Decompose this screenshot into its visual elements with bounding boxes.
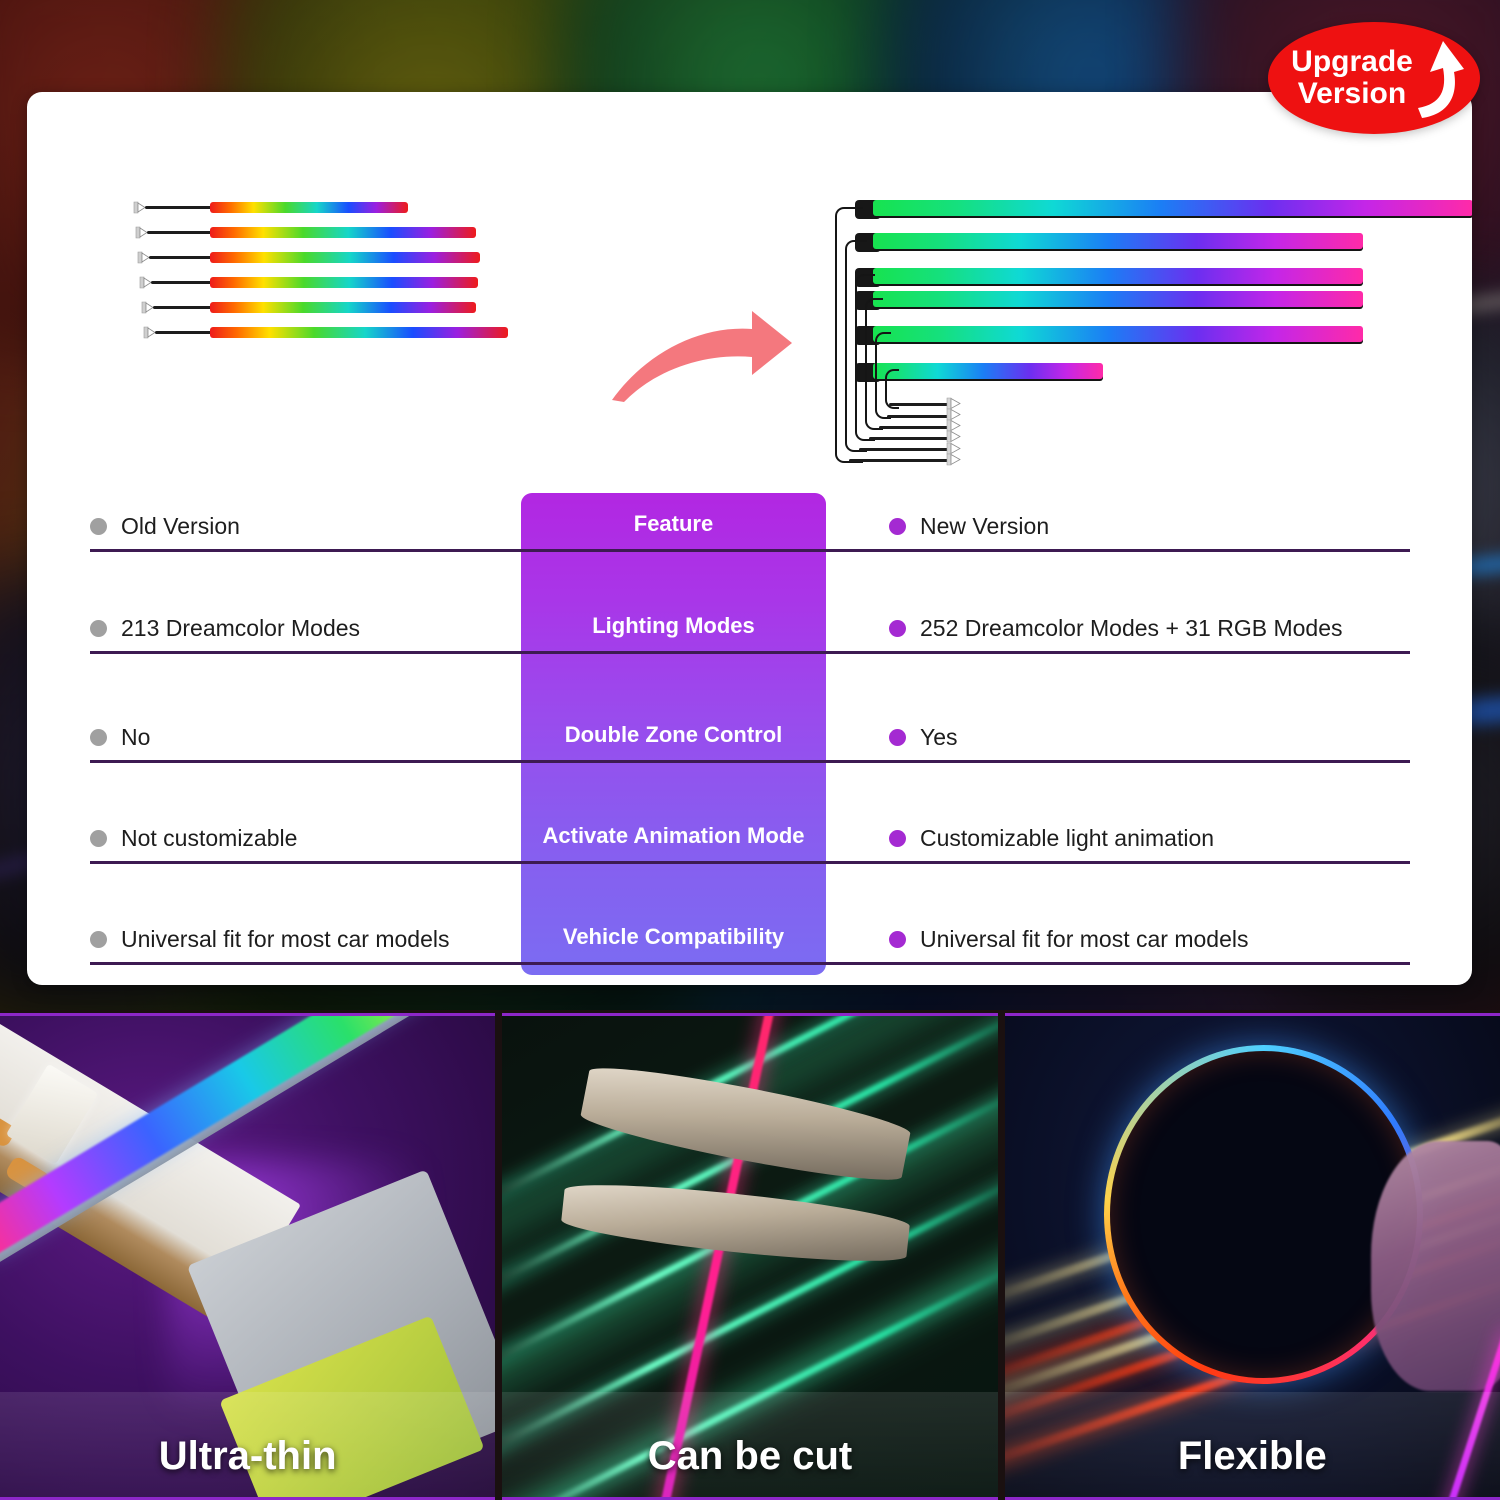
- table-separator: [90, 861, 1410, 864]
- table-row: Customizable light animation: [889, 823, 1409, 853]
- old-version-bullet-icon: [90, 518, 107, 535]
- old-version-header-label: Old Version: [121, 513, 240, 540]
- new-version-bullet-icon: [889, 830, 906, 847]
- table-row: Yes: [889, 722, 1409, 752]
- photo-caption: Flexible: [1005, 1434, 1500, 1479]
- photo-ultra-thin: Ultra-thin: [0, 1013, 495, 1500]
- old-version-bullet-icon: [90, 729, 107, 746]
- cell-old-value: No: [121, 724, 150, 751]
- cell-new-value: Universal fit for most car models: [920, 926, 1248, 953]
- connector-wire: [147, 231, 213, 234]
- cell-feature-label: Activate Animation Mode: [521, 823, 826, 849]
- photo-flexible: Flexible: [1005, 1013, 1500, 1500]
- old-version-bullet-icon: [90, 830, 107, 847]
- table-separator: [90, 549, 1410, 552]
- cell-old-value: 213 Dreamcolor Modes: [121, 615, 360, 642]
- cell-feature-label: Vehicle Compatibility: [521, 924, 826, 950]
- table-row: Universal fit for most car models: [90, 924, 520, 954]
- table-row-header-right: New Version: [889, 511, 1409, 541]
- comparison-table: Old Version Feature New Version 213 Drea…: [27, 487, 1472, 985]
- led-strip-new: [873, 200, 1472, 216]
- curved-up-arrow-icon: [1400, 38, 1470, 122]
- connector-wire: [879, 426, 949, 429]
- feature-photo-strip: Ultra-thin Can be cut Flexible: [0, 1013, 1500, 1500]
- transition-arrow-icon: [602, 297, 797, 407]
- led-strip-old: [210, 202, 408, 213]
- new-version-bullet-icon: [889, 931, 906, 948]
- connector-wire: [153, 306, 213, 309]
- content-card: Old Version Feature New Version 213 Drea…: [27, 92, 1472, 985]
- led-strip-new: [873, 326, 1363, 342]
- connector-wire: [869, 437, 949, 440]
- led-strip-new: [873, 363, 1103, 379]
- table-separator: [90, 760, 1410, 763]
- new-version-bullet-icon: [889, 518, 906, 535]
- connector-plug-icon: [945, 452, 962, 467]
- old-version-bullet-icon: [90, 931, 107, 948]
- led-strip-new: [873, 268, 1363, 284]
- led-strip-old: [210, 327, 508, 338]
- table-row-header-left: Old Version: [90, 511, 520, 541]
- led-strip-old: [210, 302, 476, 313]
- table-row: Not customizable: [90, 823, 520, 853]
- led-strip-new: [873, 233, 1363, 249]
- table-row: 252 Dreamcolor Modes + 31 RGB Modes: [889, 613, 1409, 643]
- connector-wire: [859, 448, 949, 451]
- cell-new-value: Customizable light animation: [920, 825, 1214, 852]
- new-version-bullet-icon: [889, 620, 906, 637]
- smd-led-chip: [6, 1064, 99, 1166]
- connector-wire: [849, 459, 949, 462]
- connector-wire: [887, 415, 949, 418]
- led-strip-old: [210, 227, 476, 238]
- cell-feature-label: Double Zone Control: [521, 722, 826, 748]
- table-row: 213 Dreamcolor Modes: [90, 613, 520, 643]
- table-separator: [90, 651, 1410, 654]
- connector-wire: [145, 206, 213, 209]
- feature-header-label: Feature: [521, 511, 826, 537]
- photo-caption: Can be cut: [502, 1434, 997, 1479]
- connector-wire: [155, 331, 213, 334]
- table-separator: [90, 962, 1410, 965]
- cell-new-value: Yes: [920, 724, 958, 751]
- cell-feature-label: Lighting Modes: [521, 613, 826, 639]
- photo-caption: Ultra-thin: [0, 1434, 495, 1479]
- old-version-bullet-icon: [90, 620, 107, 637]
- table-row: No: [90, 722, 520, 752]
- led-strip-new: [873, 291, 1363, 307]
- cell-old-value: Not customizable: [121, 825, 297, 852]
- new-version-bullet-icon: [889, 729, 906, 746]
- hand-holding-strip: [1371, 1141, 1500, 1391]
- connector-wire: [889, 403, 949, 406]
- led-strip-old: [210, 252, 480, 263]
- connector-wire: [151, 281, 213, 284]
- table-row: Universal fit for most car models: [889, 924, 1409, 954]
- cell-new-value: 252 Dreamcolor Modes + 31 RGB Modes: [920, 615, 1343, 642]
- new-version-header-label: New Version: [920, 513, 1049, 540]
- cell-old-value: Universal fit for most car models: [121, 926, 449, 953]
- product-illustration: [27, 92, 1472, 487]
- photo-can-be-cut: Can be cut: [502, 1013, 997, 1500]
- connector-wire: [149, 256, 213, 259]
- led-strip-old: [210, 277, 478, 288]
- upgrade-version-badge: Upgrade Version: [1268, 22, 1480, 134]
